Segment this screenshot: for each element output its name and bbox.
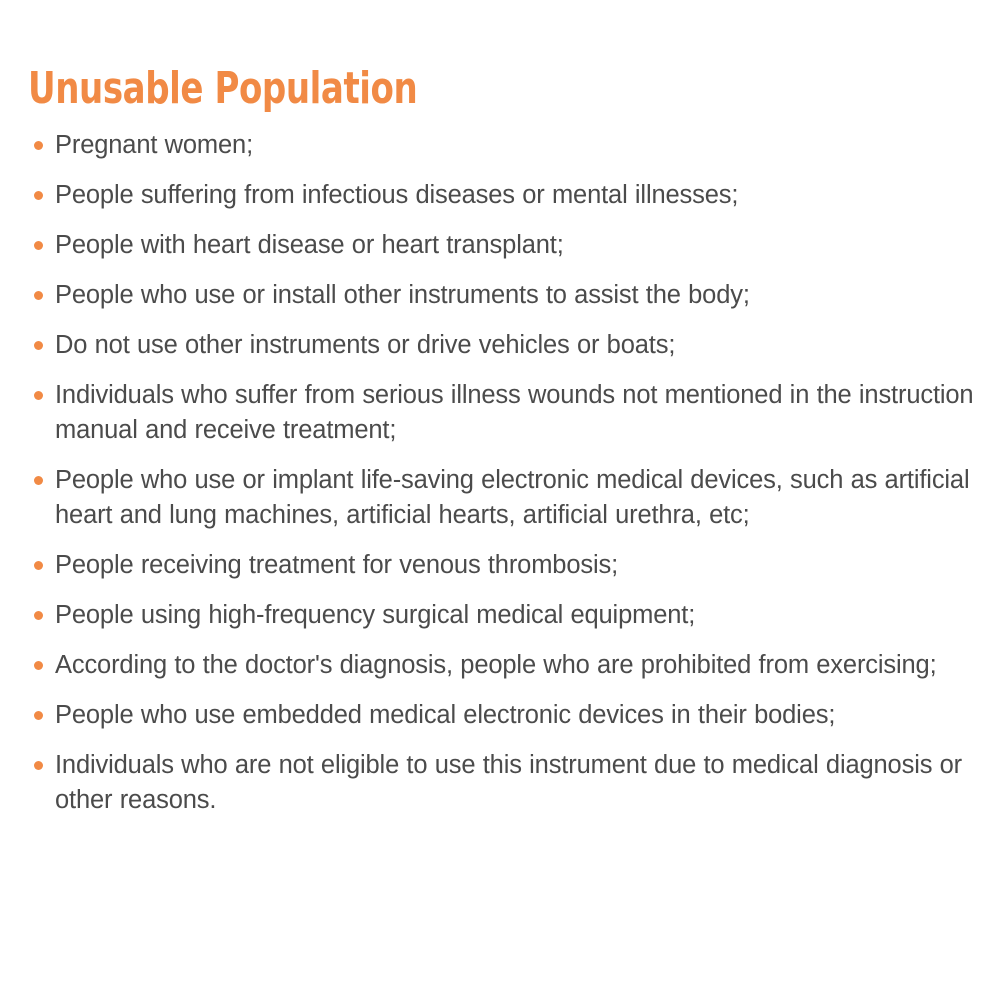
list-item-text: Do not use other instruments or drive ve…	[55, 328, 978, 363]
unusable-population-list: Pregnant women; People suffering from in…	[0, 128, 1000, 818]
list-item-text: People with heart disease or heart trans…	[55, 228, 978, 263]
list-item: People with heart disease or heart trans…	[0, 228, 1000, 263]
page-title: Unusable Population	[28, 64, 417, 114]
list-item-text: Individuals who suffer from serious illn…	[55, 378, 978, 448]
dot-bullet-icon	[34, 761, 43, 770]
list-item: People who use embedded medical electron…	[0, 698, 1000, 733]
list-item-text: People who use embedded medical electron…	[55, 698, 978, 733]
list-item: According to the doctor's diagnosis, peo…	[0, 648, 1000, 683]
list-item-text: People receiving treatment for venous th…	[55, 548, 978, 583]
list-item-text: People using high-frequency surgical med…	[55, 598, 978, 633]
dot-bullet-icon	[34, 611, 43, 620]
list-item: Pregnant women;	[0, 128, 1000, 163]
dot-bullet-icon	[34, 661, 43, 670]
dot-bullet-icon	[34, 191, 43, 200]
list-item-text: Individuals who are not eligible to use …	[55, 748, 978, 818]
list-item: Individuals who suffer from serious illn…	[0, 378, 1000, 448]
list-item: People who use or implant life-saving el…	[0, 463, 1000, 533]
list-item: Individuals who are not eligible to use …	[0, 748, 1000, 818]
list-item-text: People who use or implant life-saving el…	[55, 463, 978, 533]
dot-bullet-icon	[34, 711, 43, 720]
list-item: Do not use other instruments or drive ve…	[0, 328, 1000, 363]
dot-bullet-icon	[34, 141, 43, 150]
list-item: People receiving treatment for venous th…	[0, 548, 1000, 583]
list-item-text: People who use or install other instrume…	[55, 278, 978, 313]
list-item: People using high-frequency surgical med…	[0, 598, 1000, 633]
list-item: People suffering from infectious disease…	[0, 178, 1000, 213]
dot-bullet-icon	[34, 561, 43, 570]
unusable-population-page: Unusable Population Pregnant women; Peop…	[0, 0, 1000, 1000]
list-item-text: According to the doctor's diagnosis, peo…	[55, 648, 978, 683]
dot-bullet-icon	[34, 341, 43, 350]
dot-bullet-icon	[34, 391, 43, 400]
list-item-text: Pregnant women;	[55, 128, 978, 163]
dot-bullet-icon	[34, 241, 43, 250]
list-item: People who use or install other instrume…	[0, 278, 1000, 313]
dot-bullet-icon	[34, 291, 43, 300]
dot-bullet-icon	[34, 476, 43, 485]
list-item-text: People suffering from infectious disease…	[55, 178, 978, 213]
